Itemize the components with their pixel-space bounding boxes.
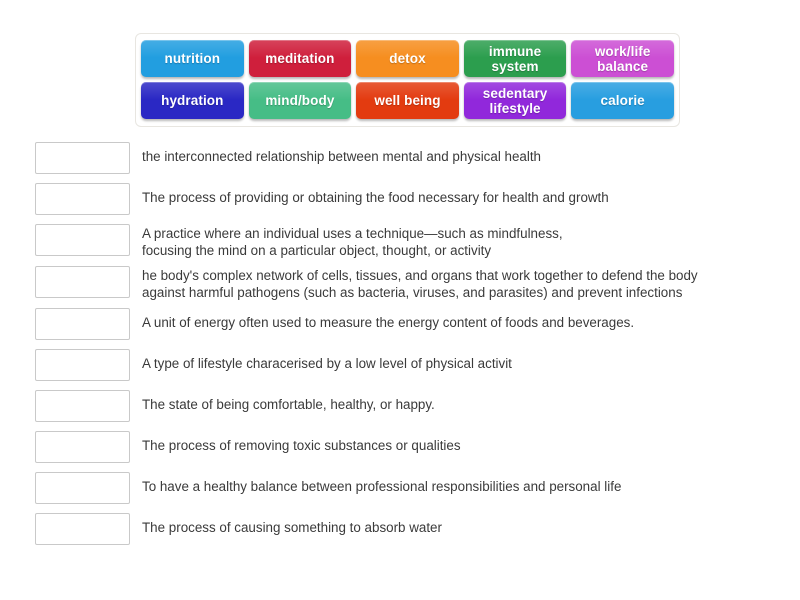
answer-drop-slot[interactable] xyxy=(35,308,130,340)
definition-row: A type of lifestyle characerised by a lo… xyxy=(35,349,775,381)
answer-drop-slot[interactable] xyxy=(35,513,130,545)
definition-text: To have a healthy balance between profes… xyxy=(142,472,621,495)
definition-text: A type of lifestyle characerised by a lo… xyxy=(142,349,512,372)
answer-drop-slot[interactable] xyxy=(35,431,130,463)
answer-tile[interactable]: mind/body xyxy=(249,82,352,119)
answer-drop-slot[interactable] xyxy=(35,183,130,215)
definition-row: The process of removing toxic substances… xyxy=(35,431,775,463)
answer-tile[interactable]: meditation xyxy=(249,40,352,77)
definition-row: the interconnected relationship between … xyxy=(35,142,775,174)
answer-drop-slot[interactable] xyxy=(35,142,130,174)
definition-text: A unit of energy often used to measure t… xyxy=(142,308,634,331)
answer-tile[interactable]: nutrition xyxy=(141,40,244,77)
definition-text: the interconnected relationship between … xyxy=(142,142,541,165)
answer-drop-slot[interactable] xyxy=(35,349,130,381)
definition-text: The process of removing toxic substances… xyxy=(142,431,461,454)
definition-text: A practice where an individual uses a te… xyxy=(142,224,563,259)
answer-drop-slot[interactable] xyxy=(35,224,130,256)
definition-text: he body's complex network of cells, tiss… xyxy=(142,266,698,301)
definition-row: To have a healthy balance between profes… xyxy=(35,472,775,504)
tile-row: nutritionmeditationdetoximmune systemwor… xyxy=(141,40,674,77)
answer-tile[interactable]: well being xyxy=(356,82,459,119)
answer-tile[interactable]: detox xyxy=(356,40,459,77)
tile-row: hydrationmind/bodywell beingsedentary li… xyxy=(141,82,674,119)
answer-drop-slot[interactable] xyxy=(35,266,130,298)
definition-text: The process of causing something to abso… xyxy=(142,513,442,536)
answer-tile[interactable]: sedentary lifestyle xyxy=(464,82,567,119)
answer-tile[interactable]: calorie xyxy=(571,82,674,119)
answer-tile[interactable]: work/life balance xyxy=(571,40,674,77)
definition-row: The state of being comfortable, healthy,… xyxy=(35,390,775,422)
answer-drop-slot[interactable] xyxy=(35,390,130,422)
definition-row: A practice where an individual uses a te… xyxy=(35,224,775,259)
answer-tile[interactable]: immune system xyxy=(464,40,567,77)
definition-text: The state of being comfortable, healthy,… xyxy=(142,390,435,413)
tile-bank: nutritionmeditationdetoximmune systemwor… xyxy=(135,33,680,127)
answer-tile[interactable]: hydration xyxy=(141,82,244,119)
definition-text: The process of providing or obtaining th… xyxy=(142,183,609,206)
definition-row: The process of providing or obtaining th… xyxy=(35,183,775,215)
definition-row: The process of causing something to abso… xyxy=(35,513,775,545)
definition-row: A unit of energy often used to measure t… xyxy=(35,308,775,340)
definition-list: the interconnected relationship between … xyxy=(35,142,775,554)
answer-drop-slot[interactable] xyxy=(35,472,130,504)
definition-row: he body's complex network of cells, tiss… xyxy=(35,266,775,301)
